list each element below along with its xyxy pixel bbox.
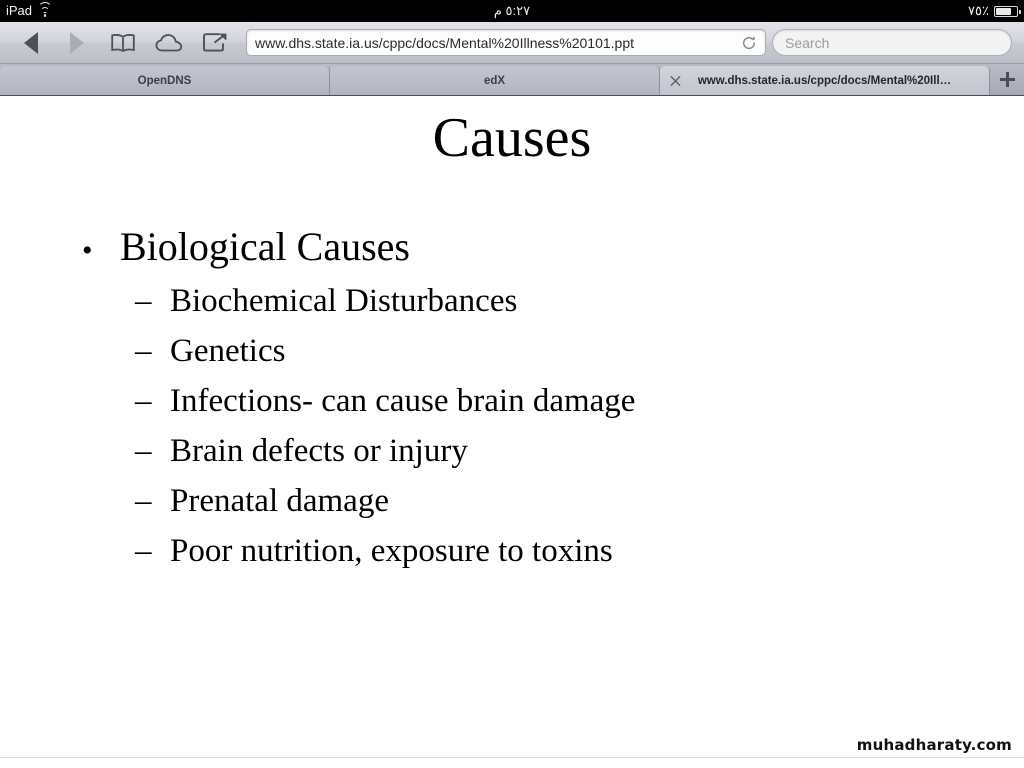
- back-button[interactable]: [8, 26, 54, 60]
- close-icon[interactable]: [670, 75, 681, 86]
- share-icon: [202, 32, 228, 53]
- reload-icon[interactable]: [741, 35, 757, 51]
- status-bar-right: ٧٥٪: [968, 0, 1018, 22]
- battery-percent-label: ٧٥٪: [968, 0, 989, 22]
- list-item: – Genetics: [0, 326, 1024, 376]
- icloud-tabs-button[interactable]: [146, 26, 192, 60]
- address-area: www.dhs.state.ia.us/cppc/docs/Mental%20I…: [238, 29, 1024, 56]
- list-item: – Infections- can cause brain damage: [0, 376, 1024, 426]
- list-item: – Poor nutrition, exposure to toxins: [0, 526, 1024, 576]
- bullet-list: • Biological Causes – Biochemical Distur…: [0, 222, 1024, 576]
- forward-button[interactable]: [54, 26, 100, 60]
- forward-arrow-icon: [70, 32, 84, 54]
- list-item-text: Genetics: [170, 326, 285, 376]
- tab-edx[interactable]: edX: [330, 66, 660, 95]
- bullet-marker: •: [82, 226, 120, 276]
- dash-marker: –: [135, 326, 170, 376]
- list-item: – Biochemical Disturbances: [0, 276, 1024, 326]
- ipad-safari-screen: iPad ٥:٢٧ م ٧٥٪: [0, 0, 1024, 768]
- status-bar: iPad ٥:٢٧ م ٧٥٪: [0, 0, 1024, 22]
- watermark: muhadharaty.com: [857, 736, 1012, 754]
- bookmarks-button[interactable]: [100, 26, 146, 60]
- book-icon: [110, 33, 136, 53]
- list-item: – Prenatal damage: [0, 476, 1024, 526]
- list-item-text: Biological Causes: [120, 222, 410, 272]
- list-item-text: Brain defects or injury: [170, 426, 468, 476]
- address-bar[interactable]: www.dhs.state.ia.us/cppc/docs/Mental%20I…: [246, 29, 766, 56]
- page-divider: [0, 757, 1024, 758]
- list-item-text: Poor nutrition, exposure to toxins: [170, 526, 613, 576]
- tab-bar: OpenDNS edX www.dhs.state.ia.us/cppc/doc…: [0, 64, 1024, 96]
- tab-label: www.dhs.state.ia.us/cppc/docs/Mental%20I…: [692, 75, 957, 87]
- browser-toolbar: www.dhs.state.ia.us/cppc/docs/Mental%20I…: [0, 22, 1024, 64]
- dash-marker: –: [135, 276, 170, 326]
- page-title: Causes: [0, 108, 1024, 170]
- dash-marker: –: [135, 476, 170, 526]
- tab-label: OpenDNS: [132, 75, 198, 87]
- navigation-buttons: [0, 26, 238, 60]
- tab-label: edX: [478, 75, 511, 87]
- plus-icon: [1000, 72, 1015, 87]
- cloud-icon: [155, 33, 183, 53]
- list-item: – Brain defects or injury: [0, 426, 1024, 476]
- tab-dhs-mental-illness[interactable]: www.dhs.state.ia.us/cppc/docs/Mental%20I…: [660, 66, 990, 95]
- share-button[interactable]: [192, 26, 238, 60]
- new-tab-button[interactable]: [990, 64, 1024, 95]
- dash-marker: –: [135, 526, 170, 576]
- battery-icon: [994, 6, 1018, 17]
- tab-opendns[interactable]: OpenDNS: [0, 66, 330, 95]
- list-item-text: Prenatal damage: [170, 476, 389, 526]
- search-input[interactable]: Search: [772, 29, 1012, 56]
- list-item-text: Infections- can cause brain damage: [170, 376, 635, 426]
- search-placeholder: Search: [785, 35, 829, 51]
- dash-marker: –: [135, 426, 170, 476]
- url-text: www.dhs.state.ia.us/cppc/docs/Mental%20I…: [255, 35, 741, 51]
- dash-marker: –: [135, 376, 170, 426]
- list-item: • Biological Causes: [0, 222, 1024, 276]
- list-item-text: Biochemical Disturbances: [170, 276, 517, 326]
- back-arrow-icon: [24, 32, 38, 54]
- status-bar-clock: ٥:٢٧ م: [0, 0, 1024, 22]
- document-viewer: Causes • Biological Causes – Biochemical…: [0, 96, 1024, 768]
